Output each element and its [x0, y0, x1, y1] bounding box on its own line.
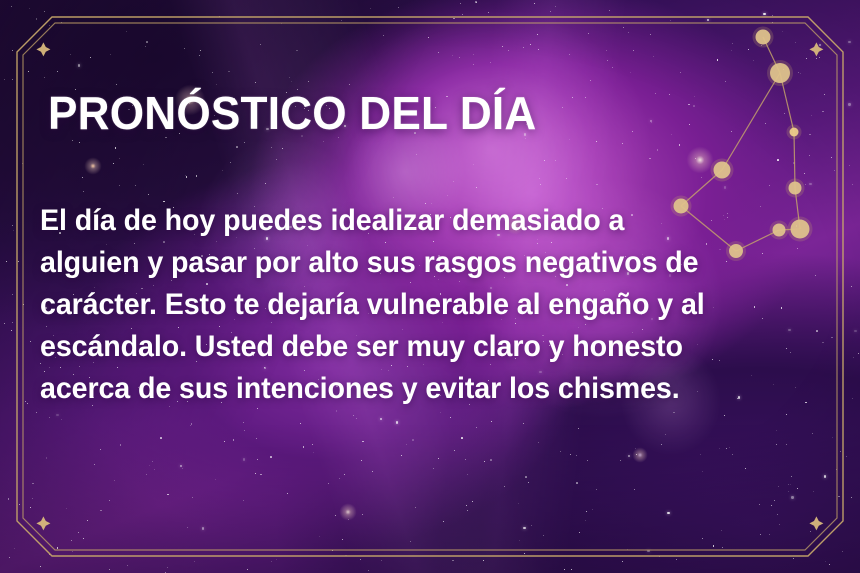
horoscope-line: alguien y pasar por alto sus rasgos nega…	[40, 242, 806, 284]
horoscope-line: carácter. Esto te dejaría vulnerable al …	[40, 284, 806, 326]
horoscope-card: PRONÓSTICO DEL DÍA El día de hoy puedes …	[0, 0, 860, 573]
horoscope-line: El día de hoy puedes idealizar demasiado…	[40, 200, 806, 242]
card-content: PRONÓSTICO DEL DÍA El día de hoy puedes …	[0, 0, 860, 573]
horoscope-line: escándalo. Usted debe ser muy claro y ho…	[40, 326, 806, 368]
page-title: PRONÓSTICO DEL DÍA	[48, 90, 536, 136]
horoscope-body: El día de hoy puedes idealizar demasiado…	[40, 200, 830, 410]
horoscope-line: acerca de sus intenciones y evitar los c…	[40, 368, 806, 410]
